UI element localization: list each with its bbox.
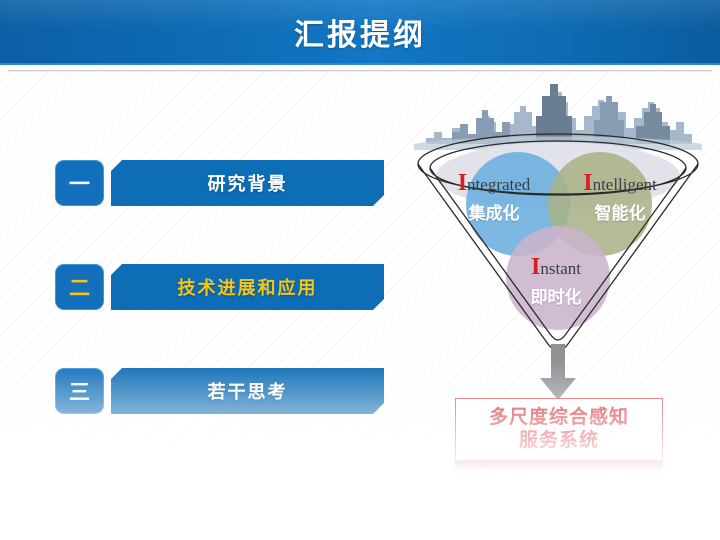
result-line-2: 服务系统 (460, 429, 658, 452)
header-underline (0, 63, 720, 65)
slide-canvas: 汇报提纲 一 研究背景 二 技术进展和应用 三 若干思考 (0, 0, 720, 540)
agenda-number-badge-2: 二 (55, 264, 104, 310)
funnel-diagram: Integrated 集成化 Intelligent 智能化 Instant 即… (408, 72, 708, 362)
city-skyline-icon (414, 84, 702, 150)
down-arrow-icon (538, 344, 578, 402)
agenda-item-1[interactable]: 一 研究背景 (55, 160, 395, 206)
page-title: 汇报提纲 (0, 0, 720, 63)
circle-instant (506, 226, 610, 330)
result-brand-superscript: 3 (539, 463, 548, 482)
agenda-item-3[interactable]: 三 若干思考 (55, 368, 395, 414)
agenda-label-bar-2[interactable]: 技术进展和应用 (111, 264, 384, 310)
agenda-list: 一 研究背景 二 技术进展和应用 三 若干思考 (55, 160, 395, 472)
result-brand: CityI3Sensing (456, 460, 662, 501)
result-chinese-title: 多尺度综合感知 服务系统 (456, 399, 662, 460)
agenda-item-2[interactable]: 二 技术进展和应用 (55, 264, 395, 310)
venn-circles (466, 152, 652, 330)
agenda-label-bar-3[interactable]: 若干思考 (111, 368, 384, 414)
result-line-1: 多尺度综合感知 (460, 406, 658, 429)
agenda-number-badge-1: 一 (55, 160, 104, 206)
agenda-label-bar-1[interactable]: 研究背景 (111, 160, 384, 206)
result-brand-prefix: CityI (475, 463, 539, 495)
result-callout: 多尺度综合感知 服务系统 CityI3Sensing (455, 398, 663, 503)
result-brand-suffix: Sensing (548, 463, 643, 495)
agenda-number-badge-3: 三 (55, 368, 104, 414)
funnel-svg (408, 72, 708, 362)
